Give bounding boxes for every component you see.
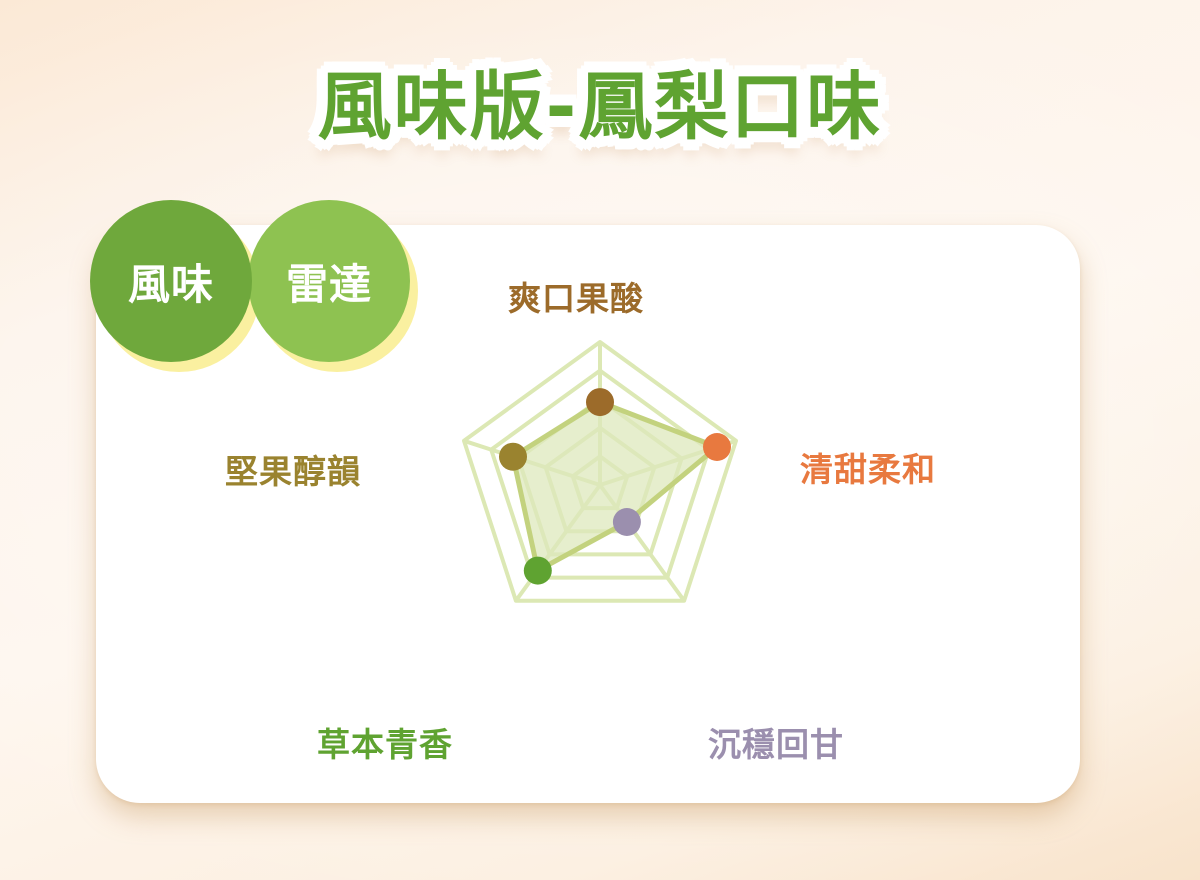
badge-label-radar: 雷達: [248, 200, 410, 362]
axis-label-crisp-acidity: 爽口果酸: [508, 272, 644, 320]
page-title: 風味版-鳳梨口味: [292, 58, 909, 161]
axis-label-deep-aftertaste: 沉穩回甘: [708, 718, 844, 766]
axis-label-sweet-mellow: 清甜柔和: [800, 443, 936, 491]
badge-label-flavor: 風味: [90, 200, 252, 362]
axis-label-herbal-fresh: 草本青香: [317, 718, 453, 766]
axis-label-nutty-body: 堅果醇韻: [225, 445, 361, 493]
flavor-radar-badge: 雷達 風味: [88, 192, 428, 387]
page-title-wrap: 風味版-鳳梨口味: [0, 58, 1200, 161]
